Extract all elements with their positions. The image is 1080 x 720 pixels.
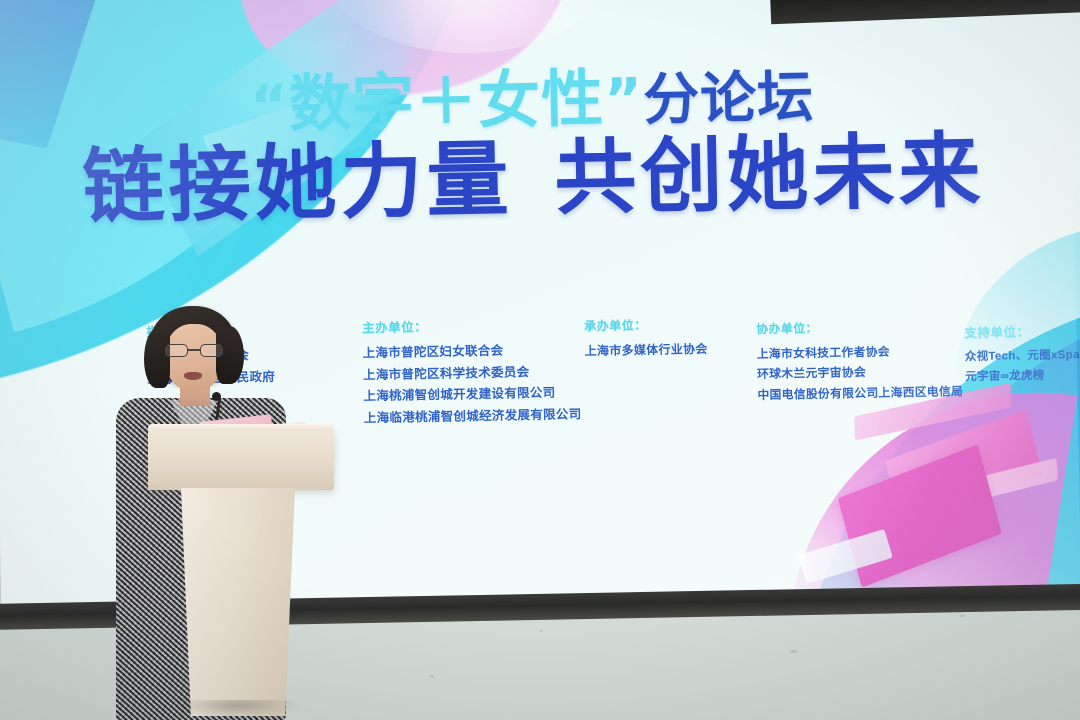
organizer-item: 上海市多媒体行业协会 xyxy=(584,339,707,362)
podium-body: SDi 上海数字创新大会 SHANGHAI DIGITAL INNOVATION… xyxy=(176,488,300,716)
glasses-icon xyxy=(165,344,223,358)
quote-open: “ xyxy=(249,72,289,141)
main-headline: 链接她力量共创她未来 xyxy=(0,129,1074,232)
organizer-item: 上海临港桃浦智创城经济发展有限公司 xyxy=(364,404,582,429)
speaker-face xyxy=(165,324,223,392)
podium-shadow xyxy=(176,700,300,718)
organizer-group-host: 主办单位： 上海市普陀区妇女联合会 上海市普陀区科学技术委员会 上海桃浦智创城开… xyxy=(362,313,582,429)
title-block: “数字＋女性”分论坛 链接她力量共创她未来 xyxy=(0,58,1074,232)
organizer-heading: 承办单位： xyxy=(584,315,707,334)
organizer-heading: 协办单位： xyxy=(756,316,962,337)
organizer-group-coorganizer: 协办单位： 上海市女科技工作者协会 环球木兰元宇宙协会 中国电信股份有限公司上海… xyxy=(756,316,963,405)
organizer-heading: 主办单位： xyxy=(362,313,580,336)
headline-gap xyxy=(513,207,555,208)
organizer-item: 众视Tech、元圈xSpaces xyxy=(965,346,1080,368)
quote-close: ” xyxy=(603,65,643,134)
organizer-group-support: 支持单位： 众视Tech、元圈xSpaces 元宇宙∞龙虎榜 xyxy=(964,320,1080,388)
headline-right: 共创她未来 xyxy=(554,124,986,227)
organizer-group-undertaker: 承办单位： 上海市多媒体行业协会 xyxy=(584,315,708,362)
forum-theme: 数字＋女性 xyxy=(288,62,604,141)
podium-top xyxy=(148,430,334,490)
organizer-heading: 支持单位： xyxy=(964,320,1080,341)
speaker-hair-left xyxy=(144,328,170,388)
headline-left: 链接她力量 xyxy=(82,133,514,236)
speaker-mouth xyxy=(184,372,202,380)
organizer-item: 中国电信股份有限公司上海西区电信局 xyxy=(757,381,963,405)
conference-photo: DIGITAL INNOVATION CONFERENCE “数字＋女性”分论坛… xyxy=(0,0,1080,720)
forum-label: 分论坛 xyxy=(643,65,815,133)
microphone-icon xyxy=(212,392,221,401)
organizer-item: 元宇宙∞龙虎榜 xyxy=(965,365,1080,387)
